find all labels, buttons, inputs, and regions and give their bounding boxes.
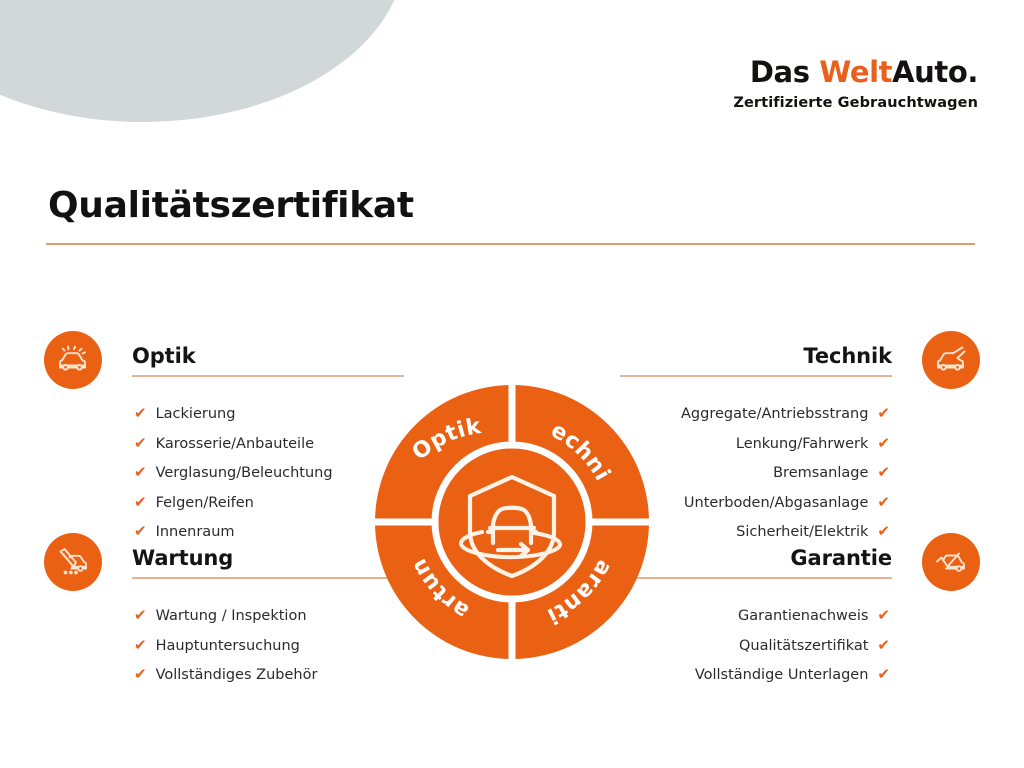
section-technik-titlewrap: Technik: [620, 344, 922, 377]
check-icon: ✔: [877, 667, 890, 682]
title-divider: [46, 243, 975, 245]
brand-name-auto: Auto.: [892, 55, 978, 89]
donut-center-fill: [439, 449, 586, 596]
section-garantie-titlewrap: Garantie: [620, 546, 922, 579]
check-icon: ✔: [134, 436, 147, 451]
list-item-label: Vollständige Unterlagen: [695, 668, 869, 683]
section-garantie-header: Garantie: [620, 532, 980, 592]
check-icon: ✔: [134, 465, 147, 480]
page-title: Qualitätszertifikat: [48, 185, 414, 226]
section-technik: Technik ✔Aggregate/Antriebsstrang ✔Lenku…: [620, 330, 980, 554]
section-optik-list: ✔Lackierung ✔Karosserie/Anbauteile ✔Verg…: [44, 406, 404, 540]
list-item-label: Wartung / Inspektion: [156, 609, 307, 624]
section-wartung-titlewrap: Wartung: [102, 546, 404, 579]
brand-name-das: Das: [750, 55, 819, 89]
check-icon: ✔: [134, 495, 147, 510]
list-item-label: Bremsanlage: [773, 466, 868, 481]
section-technik-list: ✔Aggregate/Antriebsstrang ✔Lenkung/Fahrw…: [620, 406, 980, 540]
brand-name: Das WeltAuto.: [733, 58, 978, 87]
car-pencil-icon: [44, 533, 102, 591]
check-icon: ✔: [134, 608, 147, 623]
section-technik-title: Technik: [620, 344, 892, 368]
section-optik-header: Optik: [44, 330, 404, 390]
check-icon: ✔: [877, 406, 890, 421]
check-icon: ✔: [877, 608, 890, 623]
check-icon: ✔: [877, 465, 890, 480]
check-icon: ✔: [134, 638, 147, 653]
section-garantie-list: ✔Garantienachweis ✔Qualitätszertifikat ✔…: [620, 608, 980, 683]
car-open-hood-icon: [922, 331, 980, 389]
list-item-label: Aggregate/Antriebsstrang: [681, 407, 868, 422]
section-technik-header: Technik: [620, 330, 980, 390]
section-optik: Optik ✔Lackierung ✔Karosserie/Anbauteile…: [44, 330, 404, 554]
list-item-label: Qualitätszertifikat: [739, 639, 868, 654]
check-icon: ✔: [134, 667, 147, 682]
check-icon: ✔: [877, 638, 890, 653]
section-garantie: Garantie ✔Garantienachweis ✔Qualitätszer…: [620, 532, 980, 697]
check-icon: ✔: [877, 436, 890, 451]
check-icon: ✔: [134, 406, 147, 421]
check-icon: ✔: [877, 495, 890, 510]
list-item-label: Unterboden/Abgasanlage: [684, 496, 869, 511]
central-donut-diagram: Optik Technik Garantie Wartung: [362, 372, 662, 672]
section-optik-title: Optik: [132, 344, 404, 368]
list-item-label: Lackierung: [156, 407, 236, 422]
section-wartung-list: ✔Wartung / Inspektion ✔Hauptuntersuchung…: [44, 608, 404, 683]
car-check-icon: [922, 533, 980, 591]
car-shine-icon: [44, 331, 102, 389]
list-item-label: Garantienachweis: [738, 609, 868, 624]
list-item-label: Lenkung/Fahrwerk: [736, 437, 869, 452]
section-wartung: Wartung ✔Wartung / Inspektion ✔Hauptunte…: [44, 532, 404, 697]
list-item-label: Karosserie/Anbauteile: [156, 437, 314, 452]
list-item-label: Felgen/Reifen: [156, 496, 254, 511]
brand-name-welt: Welt: [819, 55, 892, 89]
section-wartung-header: Wartung: [44, 532, 404, 592]
section-optik-titlewrap: Optik: [102, 344, 404, 377]
list-item-label: Hauptuntersuchung: [156, 639, 300, 654]
brand-logo: Das WeltAuto. Zertifizierte Gebrauchtwag…: [733, 58, 978, 111]
list-item-label: Vollständiges Zubehör: [156, 668, 318, 683]
certificate-page: Das WeltAuto. Zertifizierte Gebrauchtwag…: [0, 0, 1024, 768]
brand-tagline: Zertifizierte Gebrauchtwagen: [733, 96, 978, 111]
decorative-grey-circle: [0, 0, 405, 122]
list-item-label: Verglasung/Beleuchtung: [156, 466, 333, 481]
